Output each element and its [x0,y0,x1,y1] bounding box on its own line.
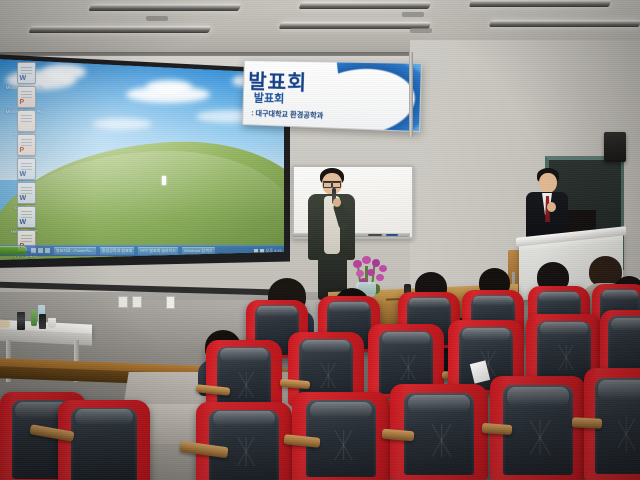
seat-highlight [540,322,589,335]
snack-item [0,320,10,328]
seat-highlight [602,290,638,300]
doc-file-icon [17,158,36,180]
start-button[interactable] [0,246,27,255]
seat-highlight [75,409,134,424]
seat-emblem [558,345,575,370]
eyeglasses-icon [323,181,341,186]
seat-highlight [473,296,513,306]
tray-icon[interactable] [260,249,264,253]
water-bottle [31,310,37,326]
hwp-file-icon [17,110,36,132]
seat-emblem [400,355,417,380]
doc-file-icon [17,206,36,228]
ceiling-vent [146,16,168,21]
light-switch[interactable] [166,296,175,309]
wall-speaker-icon [604,132,626,162]
ceiling-vent [410,28,432,33]
seat-highlight [539,292,579,302]
quick-launch-bar[interactable] [31,248,50,253]
seat-highlight [462,328,511,341]
seat-emblem [618,415,636,453]
cloud [146,80,192,94]
seat-highlight [302,340,351,353]
seat-highlight [507,387,568,406]
arrow-cursor [162,176,166,185]
seat-emblem [320,363,337,388]
quick-launch-icon[interactable] [38,248,43,253]
whiteboard-marker[interactable] [386,234,398,236]
beverage-can [17,312,25,330]
banner-subheadline: 발표회 [254,89,285,106]
ceiling-light [469,0,611,7]
quick-launch-icon[interactable] [31,248,36,253]
taskbar-task-button[interactable]: PPT 발표회 슬라이드 [138,247,178,255]
event-banner: 발표회 발표회 : 대구대학교 환경공학과 [242,60,422,132]
banner-pole [409,52,413,137]
ceiling-light [88,4,241,11]
projection-screen[interactable]: Microsoft Office Ex...Microsoft Office P… [0,56,284,262]
seat-highlight [220,348,269,362]
seat-armrest [572,417,602,429]
seat-highlight [257,306,297,316]
taskbar-task-button[interactable]: 환경공학과 발표회 [100,247,135,255]
seat-highlight [310,402,373,418]
auditorium-photo: Microsoft Office Ex...Microsoft Office P… [0,0,640,480]
ppt-file-icon [17,86,36,108]
ceiling-light [279,22,432,29]
beverage-can [39,314,46,329]
power-outlet [118,296,128,308]
taskbar-task-button[interactable]: Windows 탐색기 [182,247,214,255]
paper-cup [48,318,56,328]
ceiling-light [299,2,432,9]
mc-head [539,173,557,193]
seat-highlight [611,318,640,331]
ceiling-light [489,20,640,27]
seat-highlight [213,411,274,426]
power-outlet [132,296,142,308]
cloud [42,64,86,80]
mc-hands-clapping [547,202,556,212]
seat-highlight [329,302,369,312]
doc-file-icon [17,62,36,84]
seat-emblem [333,430,355,461]
seat-highlight [382,332,431,345]
seat-armrest [482,423,513,435]
banner-affiliation: : 대구대학교 환경공학과 [251,108,323,121]
doc-file-icon [17,182,36,204]
tray-icon[interactable] [254,249,258,253]
ceiling-vent [402,12,424,17]
taskbar-task-button[interactable]: 발표자료 - PowerPo... [54,247,96,255]
ppt-file-icon [17,134,36,156]
presenter-hand [333,198,341,207]
seat-highlight [409,298,449,308]
whiteboard-marker[interactable] [368,234,382,236]
seat-highlight [598,380,640,400]
ceiling-light [28,26,211,33]
seat-emblem [238,372,255,398]
cloud [92,118,152,130]
quick-launch-icon[interactable] [45,248,50,253]
seat-emblem [431,424,453,457]
seat-highlight [408,395,471,412]
seat-emblem [530,420,551,455]
seat-emblem [236,437,257,466]
auditorium-seat[interactable] [196,402,292,480]
